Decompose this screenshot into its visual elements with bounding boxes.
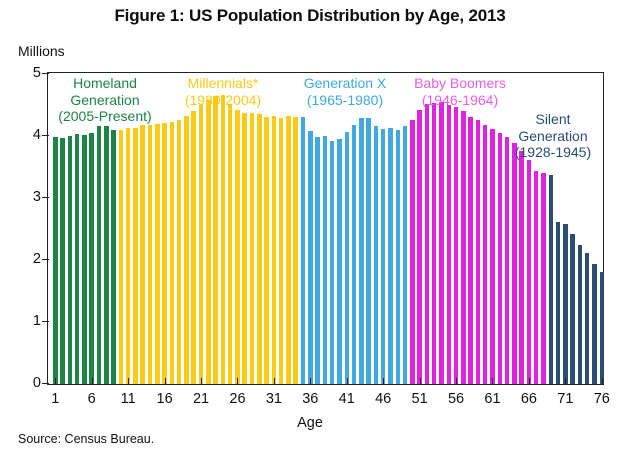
bar-age-73 bbox=[578, 245, 583, 384]
bar-age-75 bbox=[592, 264, 597, 384]
bar-age-70 bbox=[556, 222, 561, 384]
bar-age-71 bbox=[563, 224, 568, 384]
annotation-homeland-generation: Homeland Generation (2005-Present) bbox=[46, 75, 164, 125]
bar-age-36 bbox=[308, 131, 313, 384]
x-tick-41 bbox=[347, 378, 348, 385]
bar-age-56 bbox=[454, 107, 459, 384]
y-tick-label-1: 1 bbox=[33, 313, 41, 329]
annotation-silent-generation: Silent Generation (1928-1945) bbox=[503, 111, 603, 161]
x-tick-51 bbox=[420, 378, 421, 385]
bar-age-72 bbox=[570, 234, 575, 384]
bar-age-5 bbox=[82, 135, 87, 384]
figure-title: Figure 1: US Population Distribution by … bbox=[0, 6, 620, 26]
bar-age-58 bbox=[468, 117, 473, 384]
bar-age-31 bbox=[272, 116, 277, 384]
bar-age-32 bbox=[279, 118, 284, 384]
bar-age-44 bbox=[366, 118, 371, 384]
bar-age-8 bbox=[104, 126, 109, 384]
bar-age-50 bbox=[410, 120, 415, 384]
x-tick-label-21: 21 bbox=[193, 391, 209, 407]
bar-age-69 bbox=[549, 175, 554, 384]
bar-age-37 bbox=[315, 137, 320, 384]
bar-age-68 bbox=[541, 173, 546, 384]
bar-age-66 bbox=[527, 160, 532, 384]
bar-age-43 bbox=[359, 118, 364, 384]
bar-age-3 bbox=[68, 136, 73, 384]
y-tick-label-3: 3 bbox=[33, 189, 41, 205]
x-tick-61 bbox=[492, 378, 493, 385]
bar-age-9 bbox=[111, 130, 116, 384]
bar-age-49 bbox=[403, 126, 408, 384]
y-axis-label: Millions bbox=[18, 43, 65, 59]
x-tick-66 bbox=[529, 378, 530, 385]
bar-age-24 bbox=[221, 95, 226, 384]
source-note: Source: Census Bureau. bbox=[18, 432, 154, 446]
bar-age-63 bbox=[505, 137, 510, 384]
annotation-generation-x: Generation X (1965-1980) bbox=[288, 75, 402, 108]
x-tick-label-41: 41 bbox=[339, 391, 355, 407]
x-axis-label: Age bbox=[0, 415, 620, 431]
bar-age-18 bbox=[177, 120, 182, 384]
bar-age-4 bbox=[75, 134, 80, 384]
bar-age-40 bbox=[337, 139, 342, 384]
bar-age-47 bbox=[388, 128, 393, 384]
figure-container: Figure 1: US Population Distribution by … bbox=[0, 0, 620, 460]
bar-age-46 bbox=[381, 129, 386, 384]
x-tick-label-61: 61 bbox=[484, 391, 500, 407]
x-tick-11 bbox=[128, 378, 129, 385]
y-tick-label-4: 4 bbox=[33, 127, 41, 143]
y-tick-1 bbox=[42, 321, 49, 322]
bar-age-27 bbox=[242, 113, 247, 384]
bar-age-35 bbox=[301, 117, 306, 384]
bar-age-21 bbox=[199, 105, 204, 384]
x-tick-6 bbox=[92, 378, 93, 385]
y-tick-2 bbox=[42, 259, 49, 260]
bar-age-38 bbox=[323, 136, 328, 384]
x-tick-16 bbox=[165, 378, 166, 385]
bar-age-26 bbox=[235, 110, 240, 384]
bar-age-62 bbox=[498, 133, 503, 384]
bar-age-61 bbox=[490, 129, 495, 384]
bar-age-12 bbox=[133, 128, 138, 385]
x-tick-label-51: 51 bbox=[412, 391, 428, 407]
bar-age-16 bbox=[162, 123, 167, 384]
plot-area: 012345 161116212631364146515661667176 Ho… bbox=[47, 72, 604, 385]
bar-age-17 bbox=[170, 122, 175, 384]
bar-age-41 bbox=[345, 132, 350, 384]
x-tick-76 bbox=[602, 378, 603, 385]
annotation-baby-boomers: Baby Boomers (1946-1964) bbox=[403, 75, 517, 108]
bar-age-30 bbox=[264, 117, 269, 384]
bar-age-6 bbox=[89, 133, 94, 384]
bar-age-33 bbox=[286, 116, 291, 384]
x-tick-label-36: 36 bbox=[302, 391, 318, 407]
x-tick-label-46: 46 bbox=[375, 391, 391, 407]
bar-age-51 bbox=[417, 110, 422, 384]
bar-age-20 bbox=[191, 111, 196, 384]
x-tick-31 bbox=[274, 378, 275, 385]
x-tick-36 bbox=[310, 378, 311, 385]
bar-age-60 bbox=[483, 125, 488, 384]
x-tick-label-1: 1 bbox=[51, 391, 59, 407]
bar-age-19 bbox=[184, 116, 189, 384]
bar-age-34 bbox=[293, 117, 298, 384]
annotation-millennials: Millennials* (1980-2004) bbox=[166, 75, 280, 108]
bar-age-53 bbox=[432, 103, 437, 384]
bar-age-10 bbox=[119, 130, 124, 384]
bar-age-45 bbox=[374, 126, 379, 384]
x-tick-label-31: 31 bbox=[266, 391, 282, 407]
x-tick-26 bbox=[237, 378, 238, 385]
x-tick-21 bbox=[201, 378, 202, 385]
x-tick-56 bbox=[456, 378, 457, 385]
x-tick-label-66: 66 bbox=[521, 391, 537, 407]
bar-age-22 bbox=[206, 100, 211, 384]
x-tick-1 bbox=[55, 378, 56, 385]
x-tick-label-76: 76 bbox=[594, 391, 610, 407]
y-tick-3 bbox=[42, 197, 49, 198]
bar-age-64 bbox=[512, 143, 517, 384]
bar-age-42 bbox=[352, 125, 357, 384]
y-tick-label-0: 0 bbox=[33, 375, 41, 391]
bar-age-57 bbox=[461, 111, 466, 384]
x-tick-71 bbox=[565, 378, 566, 385]
x-tick-label-11: 11 bbox=[121, 391, 136, 407]
bar-age-23 bbox=[213, 96, 218, 384]
y-tick-5 bbox=[42, 73, 49, 74]
bar-age-74 bbox=[585, 253, 590, 384]
bar-age-7 bbox=[97, 126, 102, 384]
bar-age-13 bbox=[140, 125, 145, 384]
x-tick-46 bbox=[383, 378, 384, 385]
bar-age-76 bbox=[600, 272, 605, 384]
bar-age-2 bbox=[60, 138, 65, 384]
bar-age-29 bbox=[257, 114, 262, 384]
y-tick-0 bbox=[42, 383, 49, 384]
bar-age-67 bbox=[534, 171, 539, 384]
x-tick-label-26: 26 bbox=[229, 391, 245, 407]
bar-age-28 bbox=[250, 113, 255, 384]
bar-age-54 bbox=[439, 102, 444, 384]
bar-age-1 bbox=[53, 137, 58, 384]
bar-age-65 bbox=[519, 151, 524, 384]
bar-age-25 bbox=[228, 105, 233, 384]
x-tick-label-16: 16 bbox=[157, 391, 173, 407]
bar-age-14 bbox=[148, 125, 153, 384]
y-tick-label-5: 5 bbox=[33, 65, 41, 81]
bar-age-59 bbox=[476, 120, 481, 384]
x-tick-label-56: 56 bbox=[448, 391, 464, 407]
bar-age-11 bbox=[126, 128, 131, 384]
bar-age-15 bbox=[155, 124, 160, 384]
y-tick-4 bbox=[42, 135, 49, 136]
x-tick-label-71: 71 bbox=[557, 391, 573, 407]
y-tick-label-2: 2 bbox=[33, 251, 41, 267]
x-tick-label-6: 6 bbox=[88, 391, 96, 407]
bar-age-39 bbox=[330, 141, 335, 385]
bar-age-48 bbox=[396, 130, 401, 384]
bar-age-55 bbox=[447, 105, 452, 384]
bar-age-52 bbox=[425, 104, 430, 384]
